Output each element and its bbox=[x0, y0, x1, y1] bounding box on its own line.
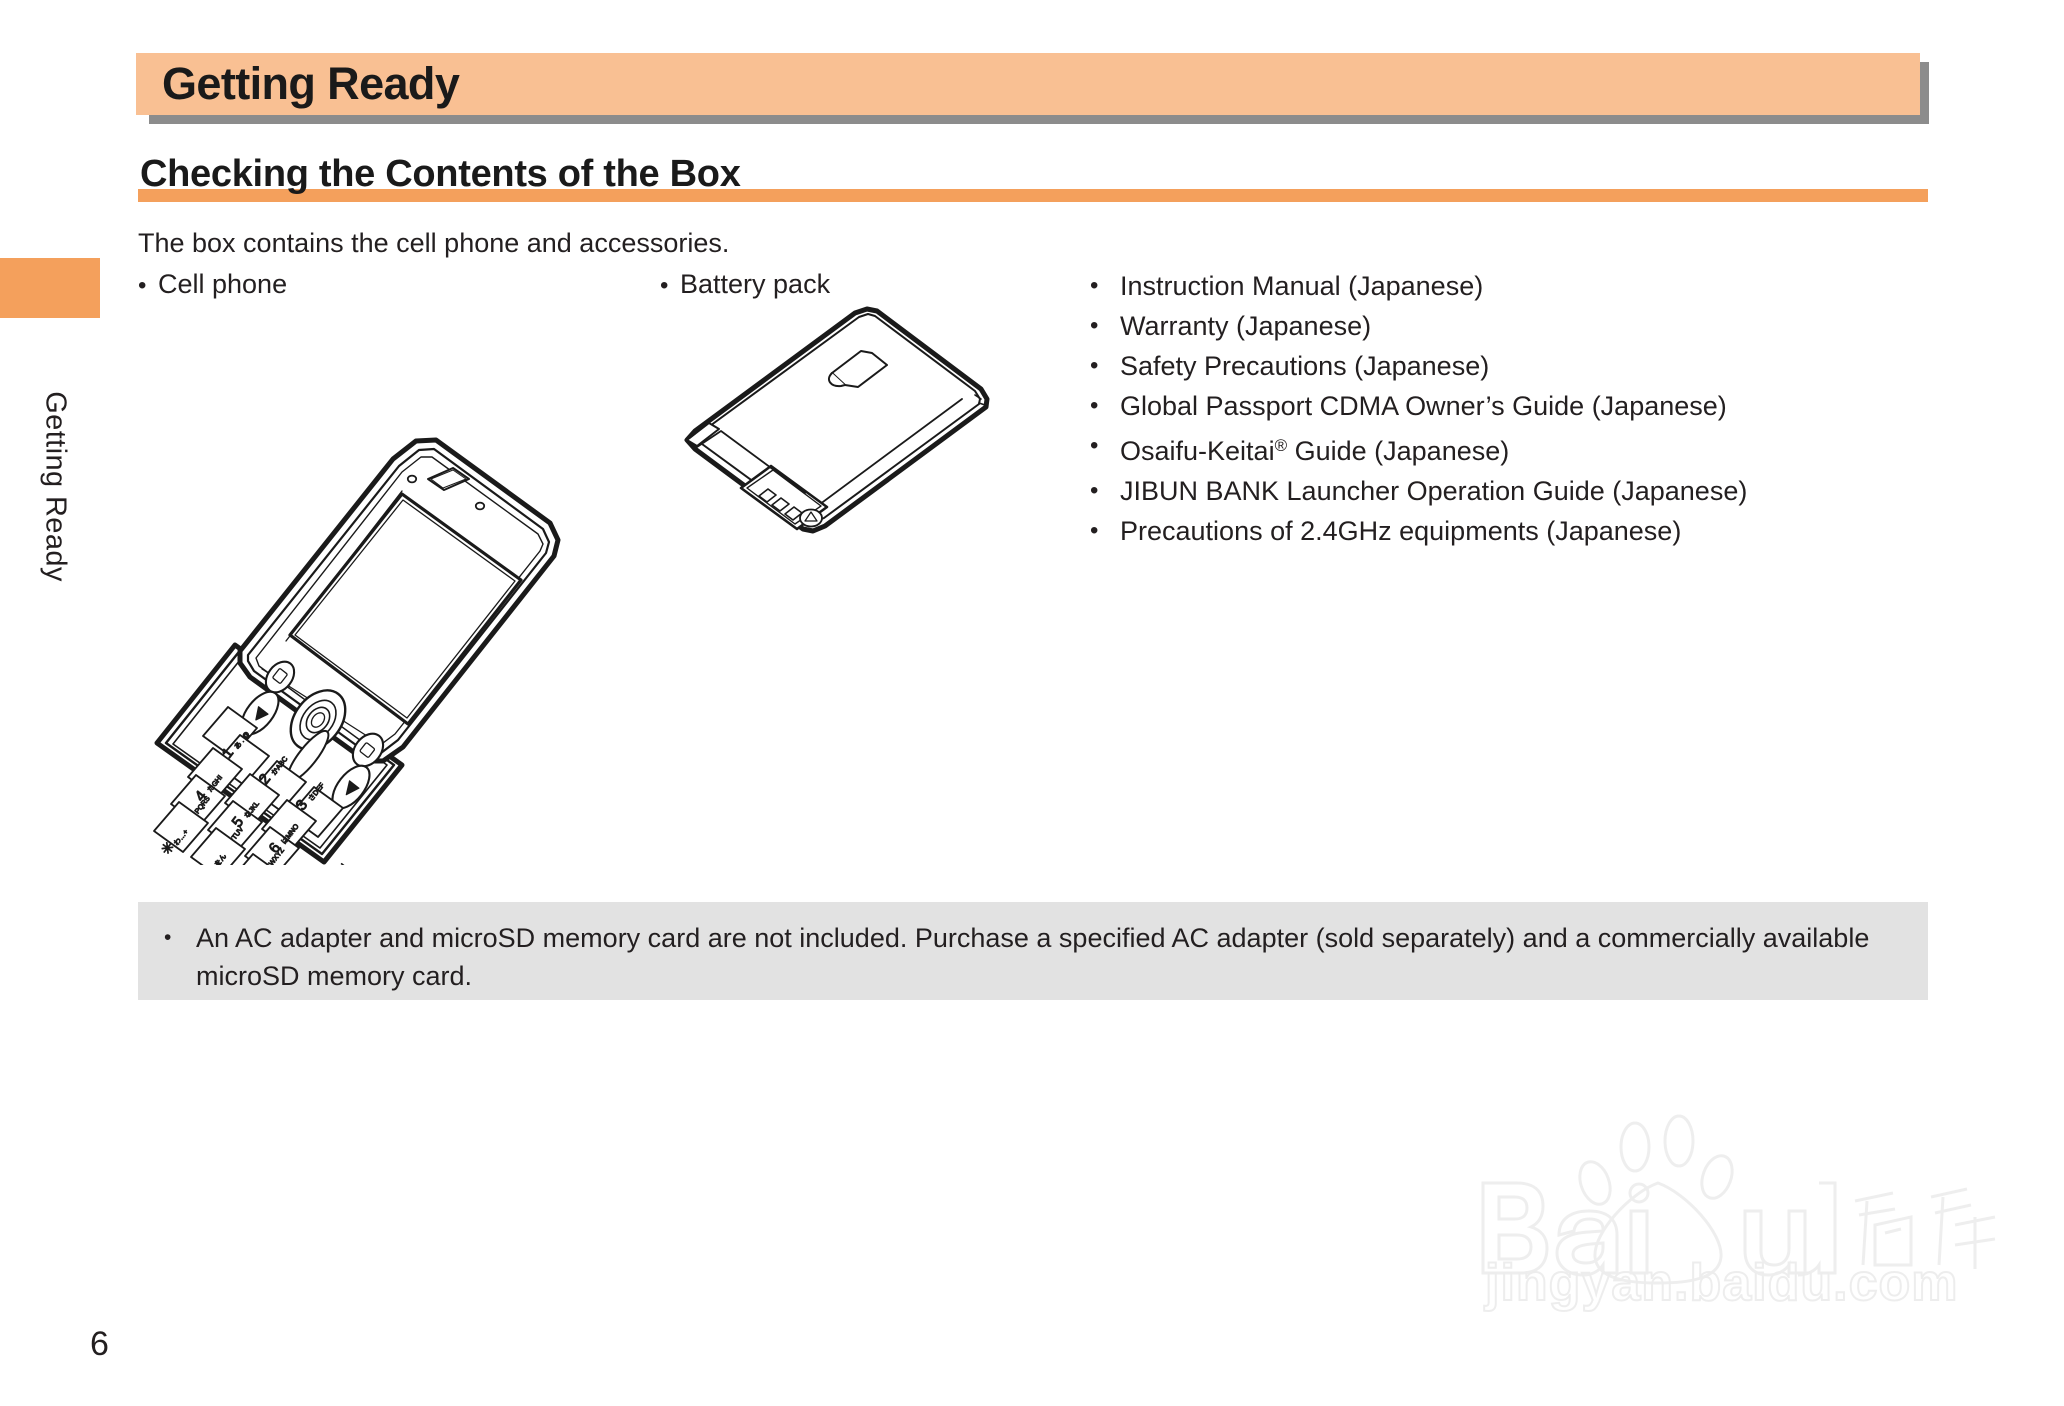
list-item: Global Passport CDMA Owner’s Guide (Japa… bbox=[1085, 386, 1747, 426]
page-number: 6 bbox=[90, 1325, 109, 1364]
chapter-tab-marker bbox=[0, 258, 100, 318]
intro-paragraph: The box contains the cell phone and acce… bbox=[138, 228, 729, 259]
bullet-icon: • bbox=[164, 919, 171, 957]
list-item: JIBUN BANK Launcher Operation Guide (Jap… bbox=[1085, 471, 1747, 511]
list-item-label-suffix: Guide (Japanese) bbox=[1287, 436, 1509, 466]
list-item-label: JIBUN BANK Launcher Operation Guide (Jap… bbox=[1120, 476, 1747, 506]
page-title: Getting Ready bbox=[162, 58, 459, 110]
header-shadow-bottom bbox=[149, 115, 1929, 124]
header-left-accent bbox=[136, 53, 140, 115]
note-text: An AC adapter and microSD memory card ar… bbox=[164, 919, 1908, 995]
list-item-label: Global Passport CDMA Owner’s Guide (Japa… bbox=[1120, 391, 1727, 421]
list-item: Precautions of 2.4GHz equipments (Japane… bbox=[1085, 511, 1747, 551]
watermark-url: jingyan.baidu.com bbox=[1485, 1253, 1959, 1313]
list-item: Osaifu-Keitai® Guide (Japanese) bbox=[1085, 426, 1747, 471]
registered-trademark-icon: ® bbox=[1275, 436, 1288, 455]
list-item-label: Warranty (Japanese) bbox=[1120, 311, 1371, 341]
svg-text:KDDI: KDDI bbox=[332, 863, 347, 865]
battery-pack-illustration bbox=[675, 295, 1015, 565]
section-heading-container: Checking the Contents of the Box bbox=[138, 150, 1928, 202]
section-heading: Checking the Contents of the Box bbox=[140, 153, 741, 196]
list-item-label: Precautions of 2.4GHz equipments (Japane… bbox=[1120, 516, 1681, 546]
chapter-header-bar: Getting Ready bbox=[140, 53, 1920, 115]
note-callout-box: • An AC adapter and microSD memory card … bbox=[138, 902, 1928, 1000]
list-item-label: Osaifu-Keitai bbox=[1120, 436, 1275, 466]
note-item: • An AC adapter and microSD memory card … bbox=[164, 919, 1908, 995]
list-item: Safety Precautions (Japanese) bbox=[1085, 346, 1747, 386]
list-item-label: Safety Precautions (Japanese) bbox=[1120, 351, 1489, 381]
cell-phone-illustration: au KDDI bbox=[140, 295, 570, 865]
chapter-side-label: Getting Ready bbox=[39, 337, 72, 637]
list-item-label: Instruction Manual (Japanese) bbox=[1120, 271, 1483, 301]
box-contents-list: Instruction Manual (Japanese)Warranty (J… bbox=[1085, 266, 1747, 551]
list-item: Instruction Manual (Japanese) bbox=[1085, 266, 1747, 306]
list-item: Warranty (Japanese) bbox=[1085, 306, 1747, 346]
baidu-watermark: jingyan.baidu.com bbox=[1455, 1105, 2055, 1305]
